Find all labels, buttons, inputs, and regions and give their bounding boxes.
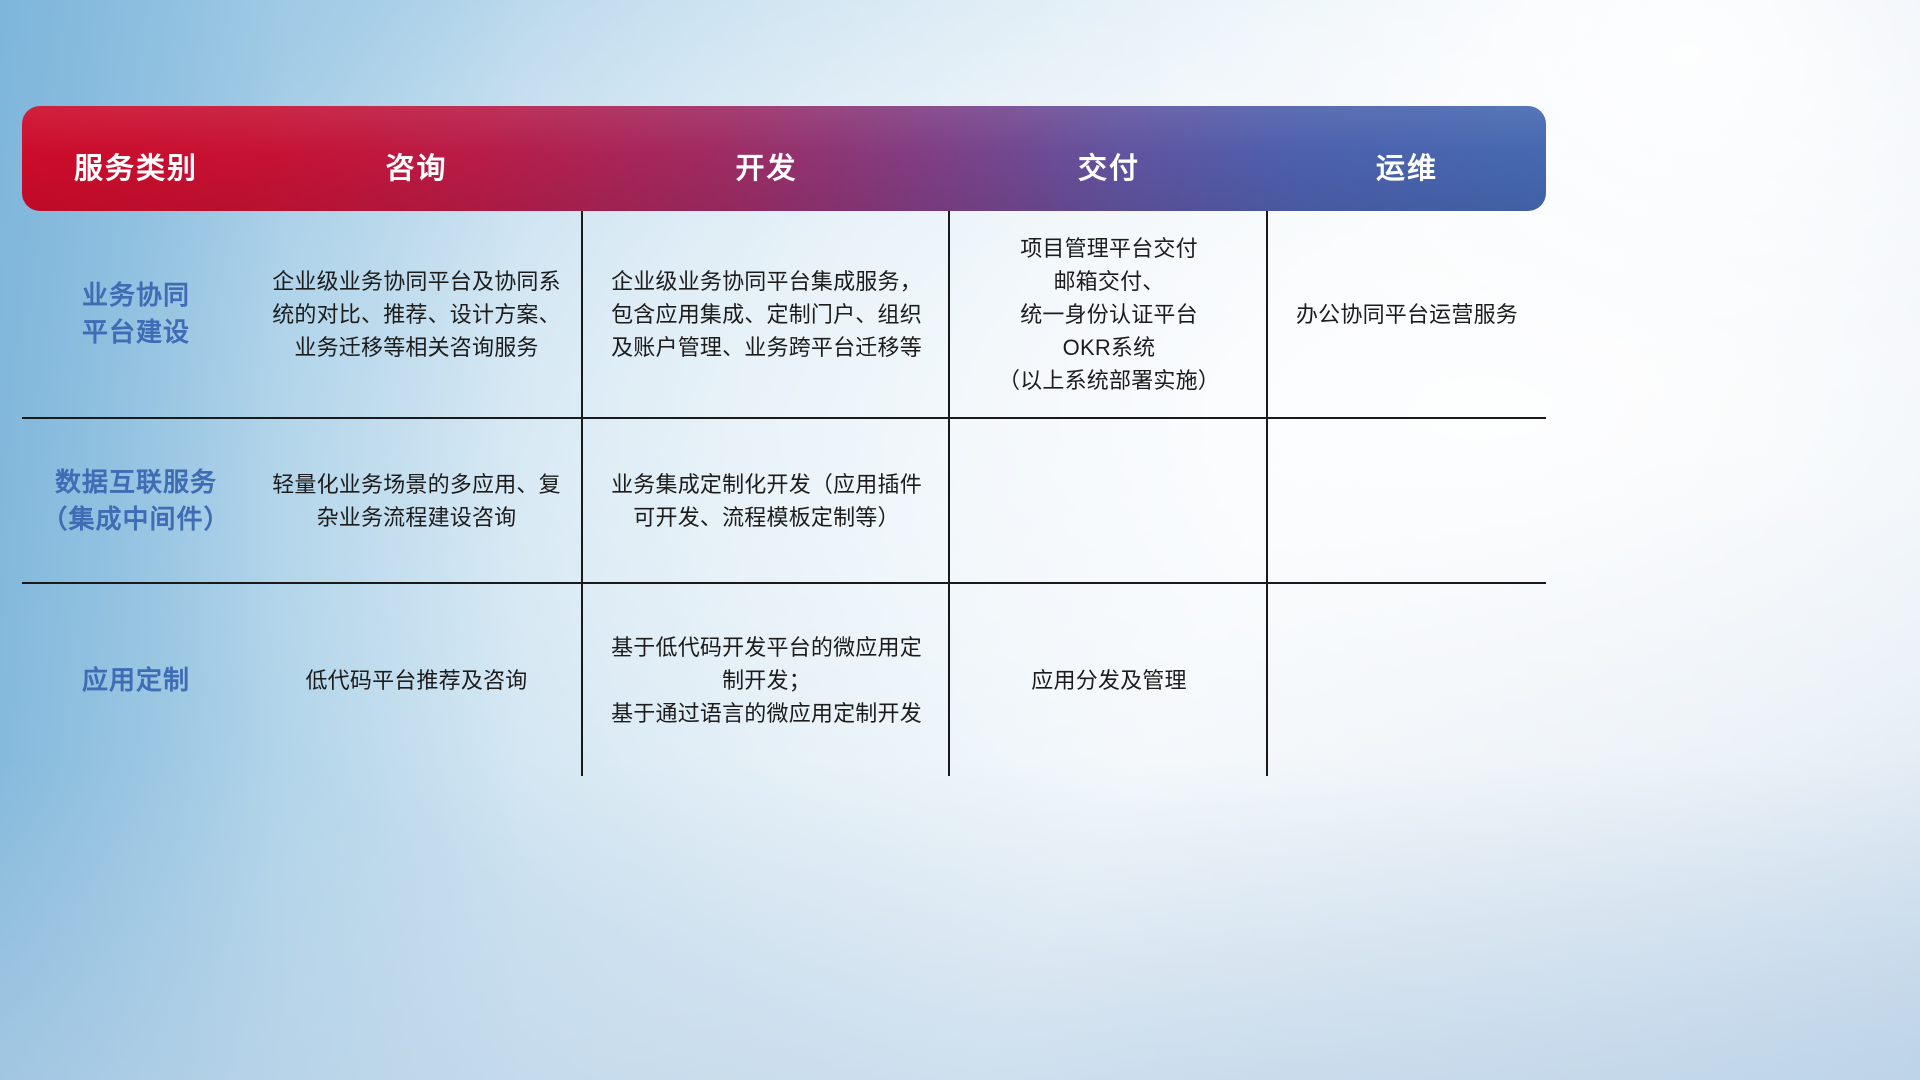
row-1-delivery-text: 项目管理平台交付 邮箱交付、 统一身份认证平台 OKR系统 （以上系统部署实施） bbox=[998, 232, 1220, 397]
row-2-operations-cell bbox=[1268, 419, 1546, 582]
row-3-consulting-cell: 低代码平台推荐及咨询 bbox=[250, 584, 583, 776]
table-row: 应用定制 低代码平台推荐及咨询 基于低代码开发平台的微应用定 制开发； 基于通过… bbox=[22, 584, 1546, 776]
row-2-development-cell: 业务集成定制化开发（应用插件 可开发、流程模板定制等） bbox=[583, 419, 950, 582]
row-3-development-cell: 基于低代码开发平台的微应用定 制开发； 基于通过语言的微应用定制开发 bbox=[583, 584, 950, 776]
row-3-delivery-cell: 应用分发及管理 bbox=[950, 584, 1268, 776]
row-1-delivery-cell: 项目管理平台交付 邮箱交付、 统一身份认证平台 OKR系统 （以上系统部署实施） bbox=[950, 211, 1268, 417]
service-matrix-table: 服务类别 咨询 开发 交付 运维 业务协同 平台建设 企业级业务协同平台及协同系… bbox=[22, 106, 1546, 776]
row-1-operations-cell: 办公协同平台运营服务 bbox=[1268, 211, 1546, 417]
table-body: 业务协同 平台建设 企业级业务协同平台及协同系 统的对比、推荐、设计方案、 业务… bbox=[22, 211, 1546, 776]
row-1-consulting-text: 企业级业务协同平台及协同系 统的对比、推荐、设计方案、 业务迁移等相关咨询服务 bbox=[272, 265, 561, 364]
row-2-delivery-cell bbox=[950, 419, 1268, 582]
row-2-development-text: 业务集成定制化开发（应用插件 可开发、流程模板定制等） bbox=[611, 468, 922, 534]
column-header-operations: 运维 bbox=[1268, 145, 1546, 211]
row-3-delivery-text: 应用分发及管理 bbox=[1031, 664, 1186, 697]
column-header-consulting: 咨询 bbox=[250, 145, 583, 211]
row-3-category-cell: 应用定制 bbox=[22, 584, 250, 776]
table-row: 业务协同 平台建设 企业级业务协同平台及协同系 统的对比、推荐、设计方案、 业务… bbox=[22, 211, 1546, 419]
table-row: 数据互联服务 （集成中间件） 轻量化业务场景的多应用、复 杂业务流程建设咨询 业… bbox=[22, 419, 1546, 584]
row-2-consulting-cell: 轻量化业务场景的多应用、复 杂业务流程建设咨询 bbox=[250, 419, 583, 582]
row-2-category-cell: 数据互联服务 （集成中间件） bbox=[22, 419, 250, 582]
row-2-consulting-text: 轻量化业务场景的多应用、复 杂业务流程建设咨询 bbox=[272, 468, 561, 534]
row-1-development-text: 企业级业务协同平台集成服务， 包含应用集成、定制门户、组织 及账户管理、业务跨平… bbox=[611, 265, 922, 364]
column-header-category: 服务类别 bbox=[22, 145, 250, 211]
row-2-category-label: 数据互联服务 （集成中间件） bbox=[41, 464, 230, 538]
row-1-development-cell: 企业级业务协同平台集成服务， 包含应用集成、定制门户、组织 及账户管理、业务跨平… bbox=[583, 211, 950, 417]
background-glow-bottom bbox=[0, 760, 1920, 1080]
column-header-development: 开发 bbox=[583, 145, 950, 211]
row-1-category-label: 业务协同 平台建设 bbox=[82, 277, 190, 351]
row-3-development-text: 基于低代码开发平台的微应用定 制开发； 基于通过语言的微应用定制开发 bbox=[611, 631, 922, 730]
row-1-operations-text: 办公协同平台运营服务 bbox=[1296, 298, 1518, 331]
column-header-delivery: 交付 bbox=[950, 145, 1268, 211]
table-header-row: 服务类别 咨询 开发 交付 运维 bbox=[22, 106, 1546, 211]
row-3-consulting-text: 低代码平台推荐及咨询 bbox=[305, 664, 527, 697]
row-3-operations-cell bbox=[1268, 584, 1546, 776]
row-1-consulting-cell: 企业级业务协同平台及协同系 统的对比、推荐、设计方案、 业务迁移等相关咨询服务 bbox=[250, 211, 583, 417]
row-1-category-cell: 业务协同 平台建设 bbox=[22, 211, 250, 417]
row-3-category-label: 应用定制 bbox=[82, 662, 190, 699]
